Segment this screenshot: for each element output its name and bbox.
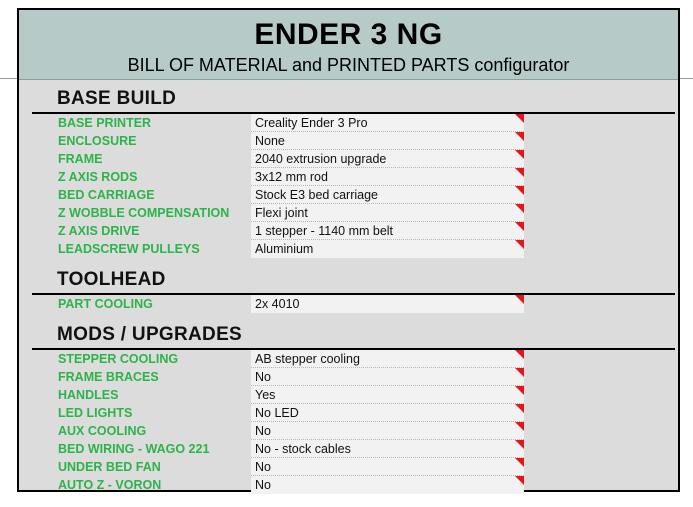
bom-row: Z WOBBLE COMPENSATIONFlexi joint <box>19 204 678 222</box>
bom-row-label: Z WOBBLE COMPENSATION <box>58 205 229 221</box>
configurator-page: ENDER 3 NG BILL OF MATERIAL and PRINTED … <box>0 0 693 507</box>
bom-row-value-cell[interactable]: Yes <box>251 386 524 404</box>
bom-row-label: FRAME BRACES <box>58 369 159 385</box>
bom-row-value: Aluminium <box>255 241 313 257</box>
bom-row-value-cell[interactable]: None <box>251 132 524 150</box>
page-subtitle: BILL OF MATERIAL and PRINTED PARTS confi… <box>19 54 678 76</box>
title-block: ENDER 3 NG BILL OF MATERIAL and PRINTED … <box>19 10 678 80</box>
comment-indicator-icon[interactable] <box>515 168 524 177</box>
bom-row-value-cell[interactable]: No <box>251 458 524 476</box>
bom-row-label: HANDLES <box>58 387 118 403</box>
bom-row-value-cell[interactable]: 3x12 mm rod <box>251 168 524 186</box>
bom-row-label: AUX COOLING <box>58 423 146 439</box>
comment-indicator-icon[interactable] <box>515 476 524 485</box>
bom-row: STEPPER COOLINGAB stepper cooling <box>19 350 678 368</box>
bom-row-value: No - stock cables <box>255 441 351 457</box>
bom-row: UNDER BED FANNo <box>19 458 678 476</box>
bom-row: Z AXIS DRIVE1 stepper - 1140 mm belt <box>19 222 678 240</box>
bom-row: LEADSCREW PULLEYSAluminium <box>19 240 678 258</box>
bom-row-value: No <box>255 477 271 493</box>
bom-row-value: AB stepper cooling <box>255 351 360 367</box>
bom-row-value-cell[interactable]: Flexi joint <box>251 204 524 222</box>
comment-indicator-icon[interactable] <box>515 204 524 213</box>
comment-indicator-icon[interactable] <box>515 404 524 413</box>
bom-row-value-cell[interactable]: No LED <box>251 404 524 422</box>
bom-row-value-cell[interactable]: No - stock cables <box>251 440 524 458</box>
bom-row-label: LEADSCREW PULLEYS <box>58 241 200 257</box>
comment-indicator-icon[interactable] <box>515 150 524 159</box>
bom-row: FRAME2040 extrusion upgrade <box>19 150 678 168</box>
bom-row: ENCLOSURENone <box>19 132 678 150</box>
bom-row-value: No <box>255 459 271 475</box>
bom-row-value: No <box>255 369 271 385</box>
bom-row-label: STEPPER COOLING <box>58 351 178 367</box>
comment-indicator-icon[interactable] <box>515 440 524 449</box>
bom-row-value: 3x12 mm rod <box>255 169 328 185</box>
bom-row-value-cell[interactable]: Aluminium <box>251 240 524 258</box>
bom-row-label: AUTO Z - VORON <box>58 477 161 493</box>
bom-row: BED CARRIAGEStock E3 bed carriage <box>19 186 678 204</box>
bom-row: FRAME BRACESNo <box>19 368 678 386</box>
bom-row-label: Z AXIS RODS <box>58 169 137 185</box>
sections-container: BASE BUILDBASE PRINTERCreality Ender 3 P… <box>19 80 678 490</box>
bom-row-label: BASE PRINTER <box>58 115 151 131</box>
bom-row-value: Flexi joint <box>255 205 308 221</box>
bom-row-value: 1 stepper - 1140 mm belt <box>255 223 393 239</box>
bom-row-label: Z AXIS DRIVE <box>58 223 140 239</box>
comment-indicator-icon[interactable] <box>515 186 524 195</box>
section-title: MODS / UPGRADES <box>57 324 242 346</box>
bom-row-value-cell[interactable]: 1 stepper - 1140 mm belt <box>251 222 524 240</box>
bom-row-value: No LED <box>255 405 299 421</box>
bom-sheet: ENDER 3 NG BILL OF MATERIAL and PRINTED … <box>17 8 680 492</box>
comment-indicator-icon[interactable] <box>515 368 524 377</box>
comment-indicator-icon[interactable] <box>515 132 524 141</box>
bom-row-value-cell[interactable]: Stock E3 bed carriage <box>251 186 524 204</box>
bom-row-value: 2x 4010 <box>255 296 299 312</box>
bom-row-value-cell[interactable]: No <box>251 476 524 494</box>
bom-row-value-cell[interactable]: 2x 4010 <box>251 295 524 313</box>
bom-row-label: FRAME <box>58 151 102 167</box>
bom-row: Z AXIS RODS3x12 mm rod <box>19 168 678 186</box>
section-title: TOOLHEAD <box>57 269 166 291</box>
bom-row-value-cell[interactable]: No <box>251 368 524 386</box>
bom-row: BED WIRING - WAGO 221No - stock cables <box>19 440 678 458</box>
bom-row-value: Yes <box>255 387 275 403</box>
comment-indicator-icon[interactable] <box>515 422 524 431</box>
bom-row-value-cell[interactable]: Creality Ender 3 Pro <box>251 114 524 132</box>
bom-row: AUX COOLINGNo <box>19 422 678 440</box>
bom-row-label: BED WIRING - WAGO 221 <box>58 441 209 457</box>
bom-row-value-cell[interactable]: No <box>251 422 524 440</box>
bom-row-label: ENCLOSURE <box>58 133 136 149</box>
bom-row-label: PART COOLING <box>58 296 153 312</box>
bom-row-value: Creality Ender 3 Pro <box>255 115 368 131</box>
bom-row-value: Stock E3 bed carriage <box>255 187 378 203</box>
page-title: ENDER 3 NG <box>19 16 678 54</box>
comment-indicator-icon[interactable] <box>515 222 524 231</box>
comment-indicator-icon[interactable] <box>515 114 524 123</box>
bom-row-label: BED CARRIAGE <box>58 187 155 203</box>
bom-row: HANDLESYes <box>19 386 678 404</box>
bom-row-value: No <box>255 423 271 439</box>
bom-row: PART COOLING2x 4010 <box>19 295 678 313</box>
bom-row-label: LED LIGHTS <box>58 405 132 421</box>
bom-row-label: UNDER BED FAN <box>58 459 161 475</box>
bom-row-value-cell[interactable]: AB stepper cooling <box>251 350 524 368</box>
bom-row-value: 2040 extrusion upgrade <box>255 151 386 167</box>
comment-indicator-icon[interactable] <box>515 350 524 359</box>
bom-row: BASE PRINTERCreality Ender 3 Pro <box>19 114 678 132</box>
section-title: BASE BUILD <box>57 88 176 110</box>
bom-row-value: None <box>255 133 285 149</box>
bom-row: AUTO Z - VORONNo <box>19 476 678 494</box>
comment-indicator-icon[interactable] <box>515 295 524 304</box>
comment-indicator-icon[interactable] <box>515 240 524 249</box>
comment-indicator-icon[interactable] <box>515 386 524 395</box>
bom-row: LED LIGHTSNo LED <box>19 404 678 422</box>
comment-indicator-icon[interactable] <box>515 458 524 467</box>
bom-row-value-cell[interactable]: 2040 extrusion upgrade <box>251 150 524 168</box>
